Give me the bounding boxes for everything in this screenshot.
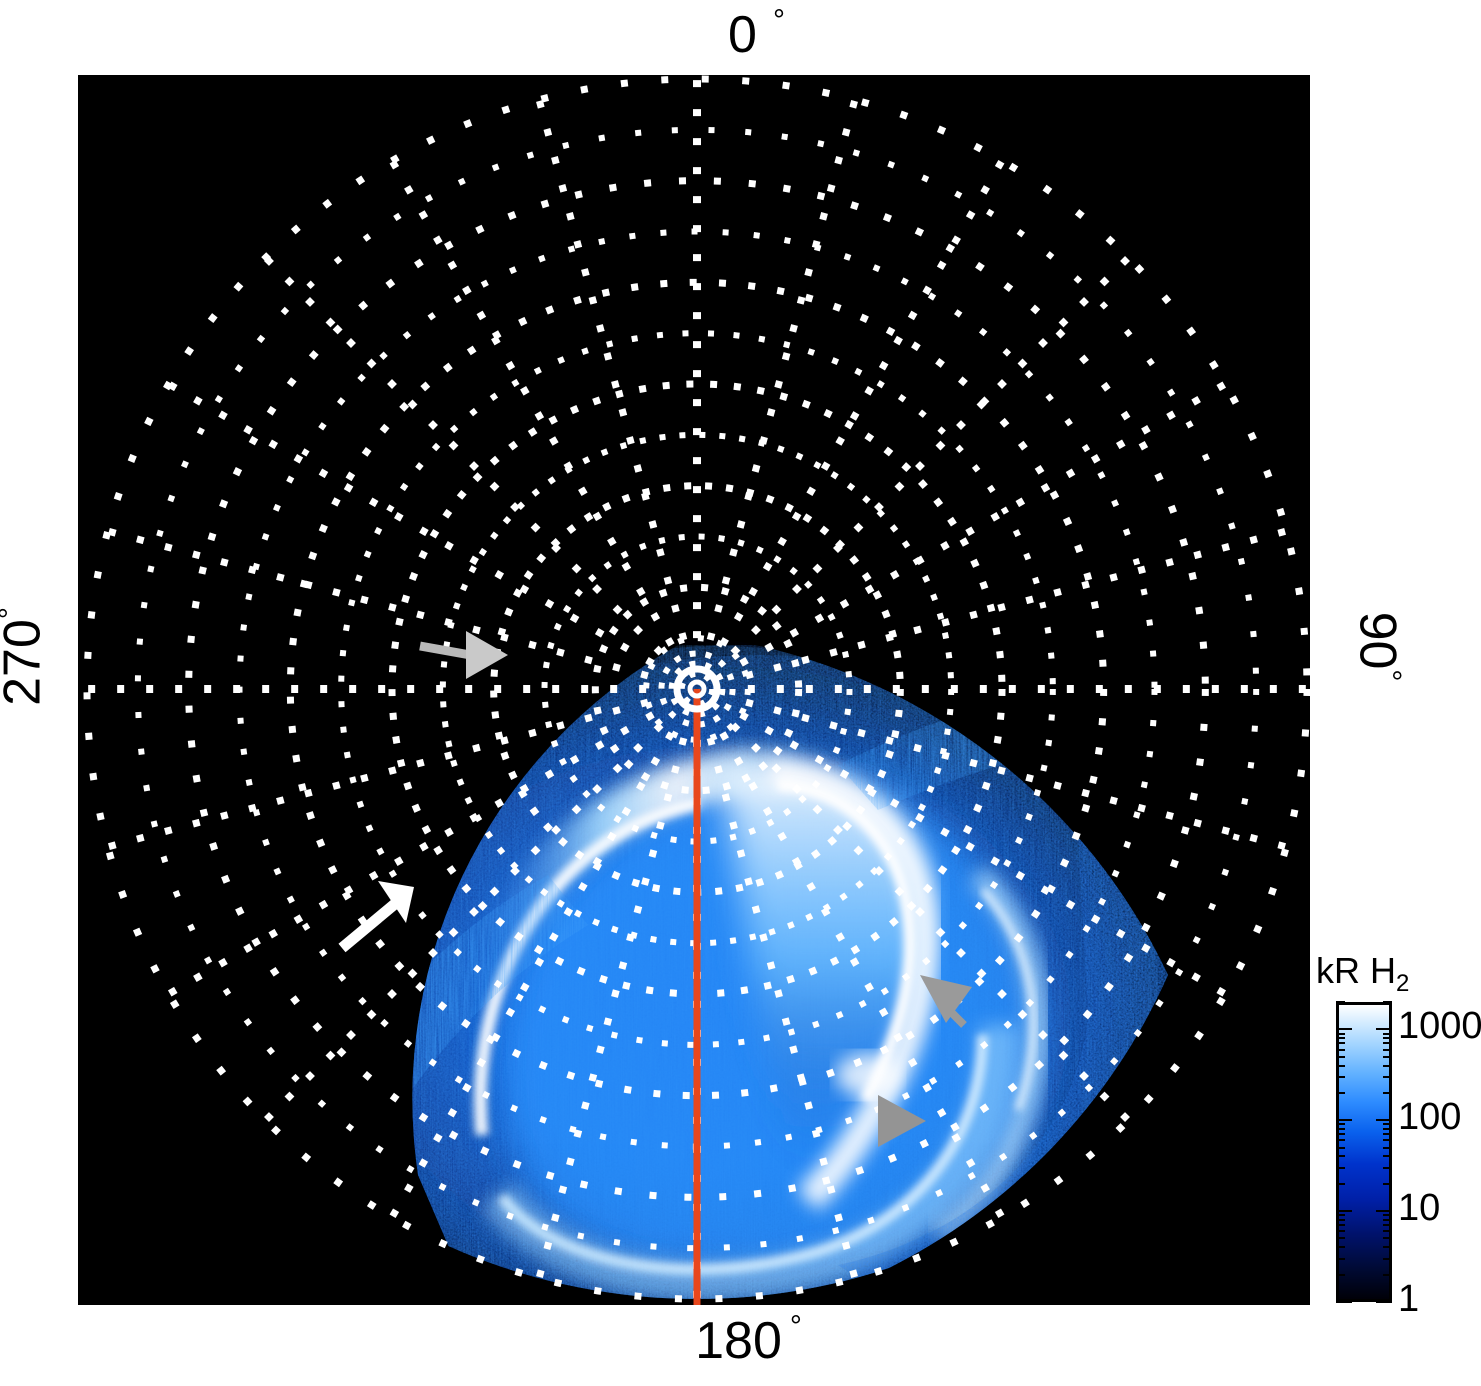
colorbar-tick-900-r — [1383, 1033, 1392, 1035]
colorbar-tick-3-r — [1383, 1258, 1392, 1260]
colorbar-tick-6-r — [1383, 1230, 1392, 1232]
colorbar-tick-9-r — [1383, 1214, 1392, 1216]
colorbar-tick-4-r — [1383, 1246, 1392, 1248]
degree-symbol-bottom: ° — [790, 1312, 802, 1342]
colorbar-tick-60-r — [1383, 1139, 1392, 1141]
axis-label-top-value: 0 — [728, 9, 757, 61]
colorbar-label-10: 10 — [1398, 1189, 1440, 1227]
axis-label-right-value: 90 — [1349, 612, 1407, 670]
axis-label-bottom-value: 180 — [695, 1315, 782, 1367]
colorbar-tick-2-l — [1336, 1274, 1345, 1276]
colorbar-tick-20-r — [1383, 1183, 1392, 1185]
colorbar-tick-60-l — [1336, 1139, 1345, 1141]
polar-patch — [836, 1053, 900, 1097]
colorbar-tick-200-l — [1336, 1092, 1345, 1094]
colorbar-tick-400-l — [1336, 1065, 1345, 1067]
colorbar-label-100: 100 — [1398, 1098, 1461, 1136]
colorbar-tick-700-l — [1336, 1042, 1345, 1044]
colorbar-tick-5-l — [1336, 1237, 1345, 1239]
polar-plot-svg — [78, 75, 1310, 1305]
axis-label-top: 0° — [0, 6, 1481, 61]
colorbar-tick-80-r — [1383, 1128, 1392, 1130]
colorbar-title-subscript: 2 — [1396, 970, 1409, 997]
colorbar-tick-700-r — [1383, 1042, 1392, 1044]
colorbar-tick-10-r — [1376, 1210, 1392, 1212]
colorbar-tick-1000-r — [1376, 1028, 1392, 1030]
colorbar-tick-800-l — [1336, 1037, 1345, 1039]
colorbar-title-main: kR H — [1316, 950, 1396, 991]
colorbar-tick-7-l — [1336, 1224, 1345, 1226]
colorbar-tick-100-l — [1336, 1119, 1352, 1121]
colorbar-tick-30-l — [1336, 1167, 1345, 1169]
colorbar-tick-2000-r — [1383, 1001, 1392, 1003]
colorbar-tick-4-l — [1336, 1246, 1345, 1248]
colorbar-tick-600-l — [1336, 1049, 1345, 1051]
colorbar-tick-70-r — [1383, 1133, 1392, 1135]
axis-label-right: 90° — [1352, 537, 1405, 757]
colorbar-tick-7-r — [1383, 1224, 1392, 1226]
colorbar-tick-1000-l — [1336, 1028, 1352, 1030]
colorbar-tick-600-r — [1383, 1049, 1392, 1051]
colorbar-tick-400-r — [1383, 1065, 1392, 1067]
colorbar: kR H2 1000100101 — [1316, 950, 1481, 1320]
colorbar-ticks — [1336, 1002, 1392, 1302]
colorbar-label-1: 1 — [1398, 1280, 1419, 1318]
axis-label-left-value: 270 — [0, 619, 52, 706]
colorbar-tick-20-l — [1336, 1183, 1345, 1185]
colorbar-tick-90-r — [1383, 1123, 1392, 1125]
colorbar-tick-40-l — [1336, 1155, 1345, 1157]
colorbar-tick-50-r — [1383, 1147, 1392, 1149]
colorbar-tick-100-r — [1376, 1119, 1392, 1121]
colorbar-tick-1-l — [1336, 1301, 1352, 1303]
colorbar-tick-2000-l — [1336, 1001, 1345, 1003]
degree-symbol-right: ° — [1374, 669, 1407, 681]
colorbar-tick-300-l — [1336, 1076, 1345, 1078]
colorbar-title: kR H2 — [1316, 950, 1409, 998]
colorbar-tick-6-l — [1336, 1230, 1345, 1232]
colorbar-tick-70-l — [1336, 1133, 1345, 1135]
colorbar-tick-1-r — [1376, 1301, 1392, 1303]
polar-aurora-figure: 0° 180° 270° 90° — [0, 0, 1481, 1386]
colorbar-tick-500-l — [1336, 1056, 1345, 1058]
colorbar-tick-300-r — [1383, 1076, 1392, 1078]
axis-label-left: 270° — [0, 547, 49, 767]
colorbar-tick-3-l — [1336, 1258, 1345, 1260]
colorbar-tick-200-r — [1383, 1092, 1392, 1094]
colorbar-tick-5-r — [1383, 1237, 1392, 1239]
colorbar-tick-2-r — [1383, 1274, 1392, 1276]
colorbar-label-1000: 1000 — [1398, 1007, 1481, 1045]
colorbar-tick-40-r — [1383, 1155, 1392, 1157]
degree-symbol-left: ° — [0, 607, 27, 619]
colorbar-tick-9-l — [1336, 1214, 1345, 1216]
colorbar-tick-90-l — [1336, 1123, 1345, 1125]
colorbar-tick-10-l — [1336, 1210, 1352, 1212]
colorbar-tick-50-l — [1336, 1147, 1345, 1149]
colorbar-tick-8-r — [1383, 1219, 1392, 1221]
axis-label-bottom: 180° — [0, 1312, 1481, 1367]
colorbar-tick-80-l — [1336, 1128, 1345, 1130]
colorbar-tick-800-r — [1383, 1037, 1392, 1039]
colorbar-tick-8-l — [1336, 1219, 1345, 1221]
colorbar-tick-30-r — [1383, 1167, 1392, 1169]
colorbar-tick-500-r — [1383, 1056, 1392, 1058]
degree-symbol-top: ° — [773, 6, 785, 36]
colorbar-tick-900-l — [1336, 1033, 1345, 1035]
polar-plot-panel — [78, 75, 1310, 1305]
